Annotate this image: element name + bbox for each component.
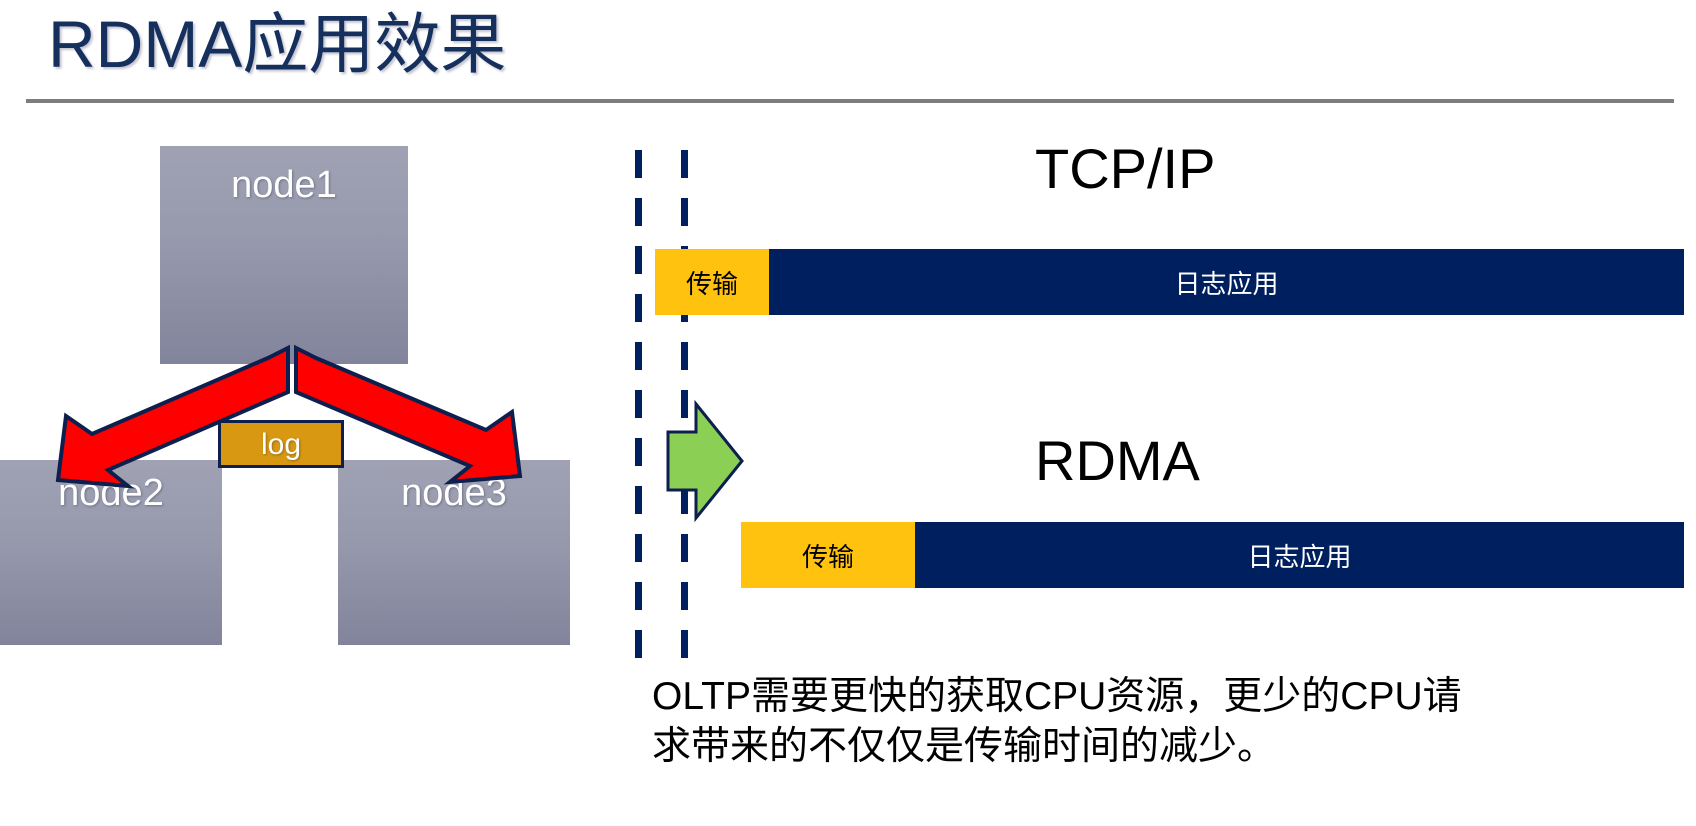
bar-rdma: 传输 日志应用	[741, 522, 1684, 588]
log-box: log	[218, 420, 344, 468]
green-block-arrow-shape	[668, 404, 742, 518]
caption-line-1: OLTP需要更快的获取CPU资源，更少的CPU请	[652, 672, 1662, 722]
chart-label-rdma: RDMA	[1035, 430, 1200, 492]
caption-line-2: 求带来的不仅仅是传输时间的减少。	[652, 722, 1662, 772]
title-divider	[26, 99, 1674, 103]
bar-segment-log-apply-rdma: 日志应用	[915, 522, 1684, 588]
improvement-arrow-icon	[650, 400, 746, 522]
bar-segment-transfer-rdma: 传输	[741, 522, 915, 588]
log-box-label: log	[221, 425, 341, 465]
bar-segment-log-apply-tcpip: 日志应用	[769, 249, 1684, 315]
slide-canvas: RDMA应用效果 node1 node2 node3 log TCP/IP RD…	[0, 0, 1696, 826]
node-label-node1: node1	[160, 164, 408, 206]
bar-segment-transfer-tcpip: 传输	[655, 249, 769, 315]
chart-label-tcpip: TCP/IP	[1035, 138, 1215, 200]
bar-tcpip: 传输 日志应用	[655, 249, 1684, 315]
caption-text: OLTP需要更快的获取CPU资源，更少的CPU请 求带来的不仅仅是传输时间的减少…	[652, 672, 1662, 772]
page-title: RDMA应用效果	[48, 2, 506, 86]
guide-line-start-marker	[635, 150, 642, 662]
